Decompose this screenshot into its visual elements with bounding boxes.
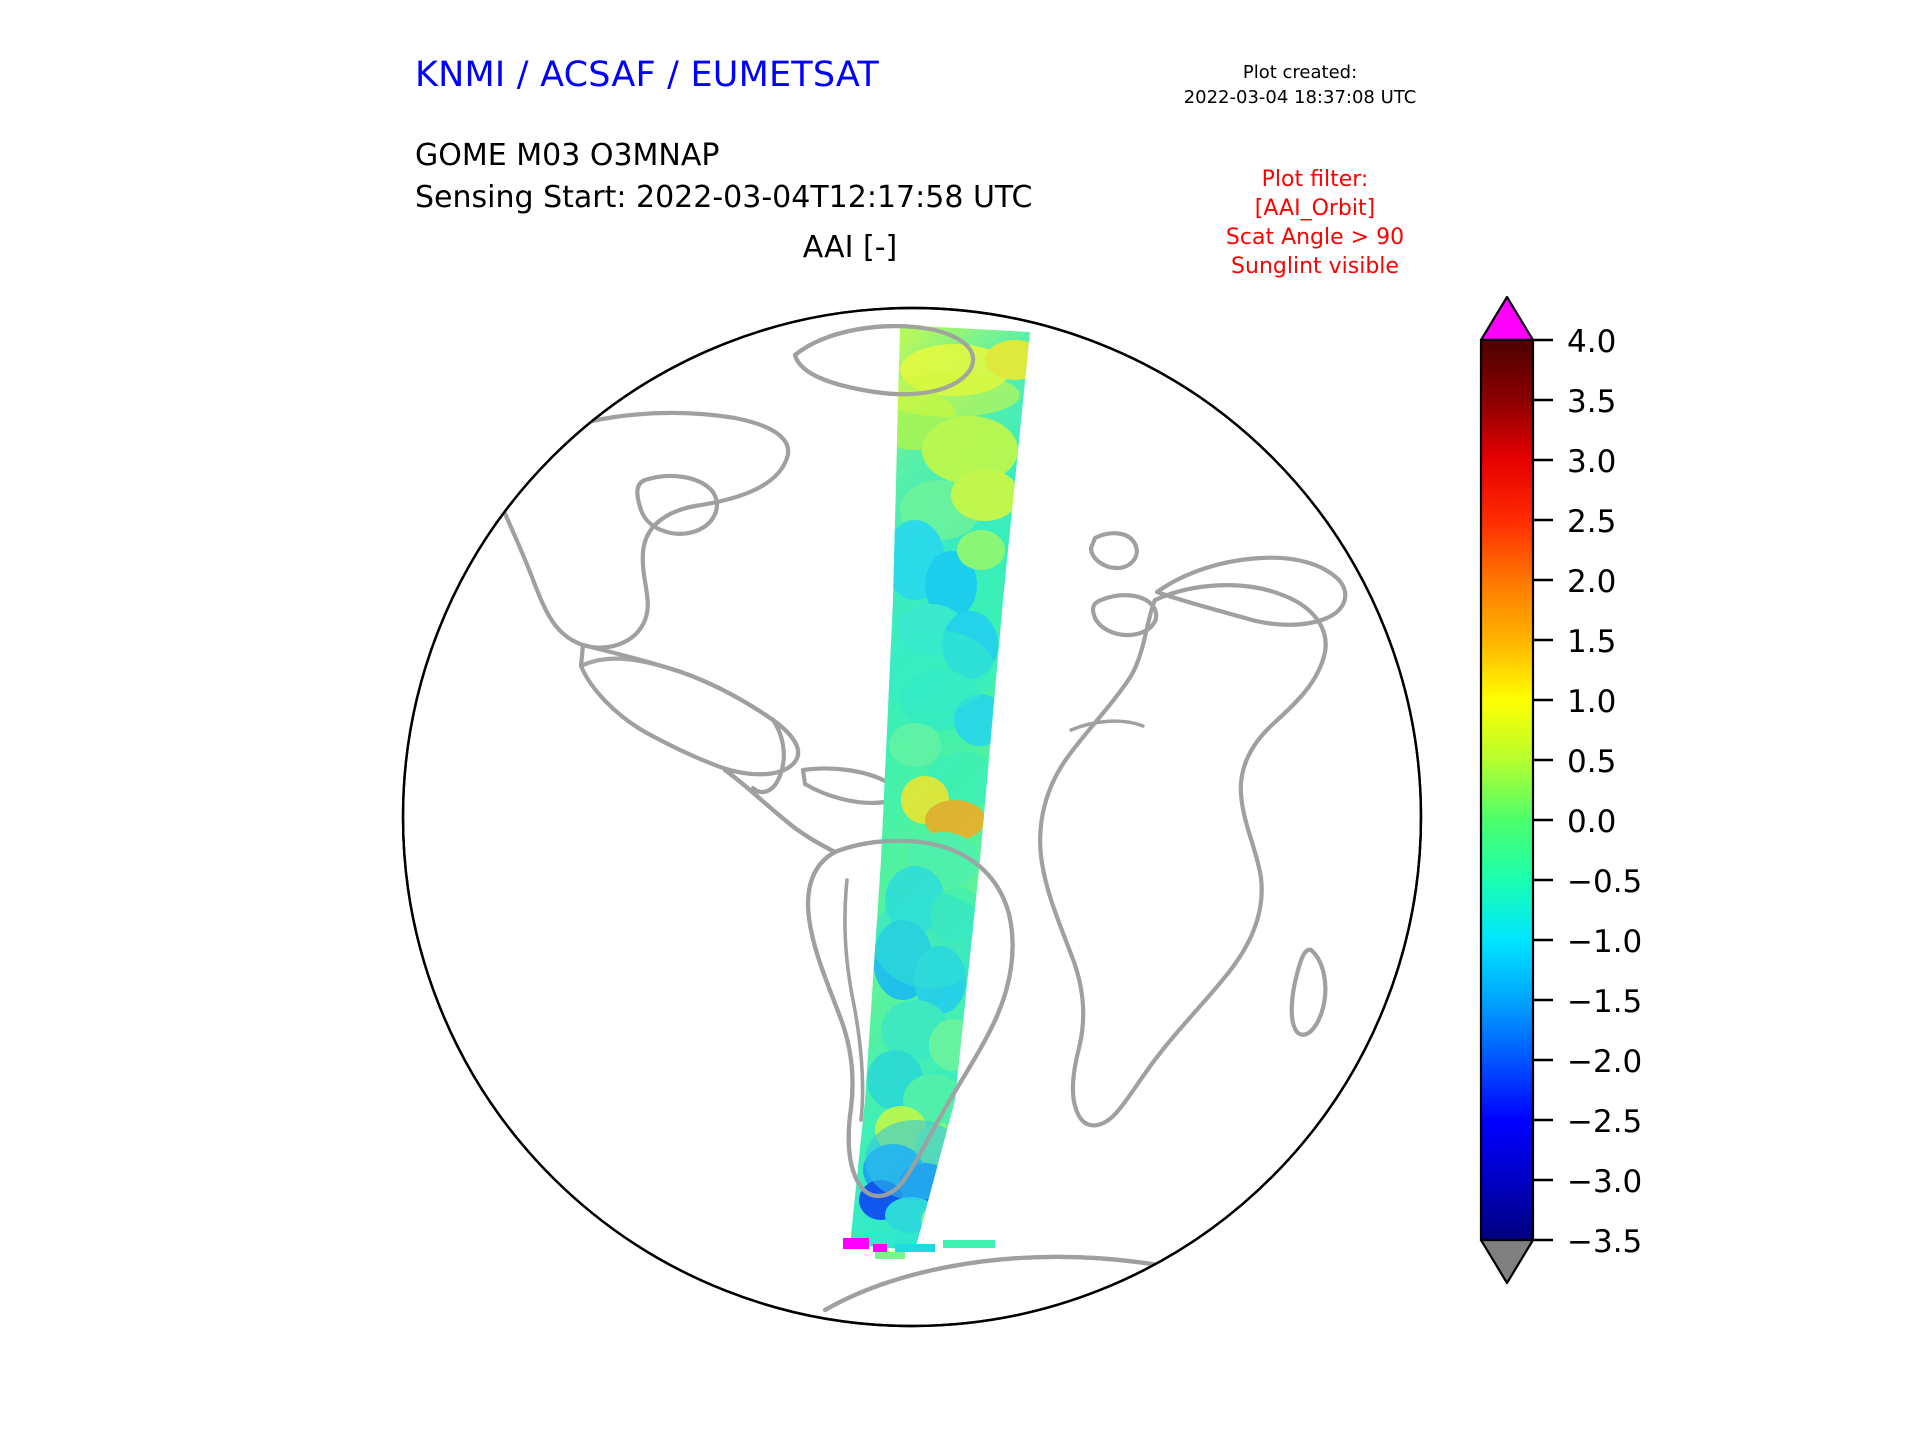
brand-header: KNMI / ACSAF / EUMETSAT bbox=[415, 55, 879, 95]
colorbar-gradient bbox=[1481, 340, 1533, 1240]
colorbar: 4.0 3.5 3.0 2.5 2.0 1.5 1.0 0.5 0.0 −0.5… bbox=[1445, 285, 1865, 1305]
cb-label-1: 3.5 bbox=[1567, 384, 1616, 420]
cb-label-9: −0.5 bbox=[1567, 864, 1642, 900]
colorbar-ticks bbox=[1533, 340, 1553, 1240]
cb-label-2: 3.0 bbox=[1567, 444, 1616, 480]
orthographic-map bbox=[395, 300, 1430, 1335]
cb-label-11: −1.5 bbox=[1567, 984, 1642, 1020]
filter-line-3: Sunglint visible bbox=[1150, 252, 1480, 281]
sensing-start-title: Sensing Start: 2022-03-04T12:17:58 UTC bbox=[415, 177, 1032, 219]
variable-title: AAI [-] bbox=[690, 230, 1010, 265]
cb-label-8: 0.0 bbox=[1567, 804, 1616, 840]
cb-label-10: −1.0 bbox=[1567, 924, 1642, 960]
plot-filter-block: Plot filter: [AAI_Orbit] Scat Angle > 90… bbox=[1150, 165, 1480, 281]
filter-line-0: Plot filter: bbox=[1150, 165, 1480, 194]
instrument-title: GOME M03 O3MNAP bbox=[415, 135, 1032, 177]
cb-label-14: −3.0 bbox=[1567, 1164, 1642, 1200]
colorbar-over-arrow bbox=[1481, 297, 1533, 340]
cb-label-0: 4.0 bbox=[1567, 324, 1616, 360]
cb-label-12: −2.0 bbox=[1567, 1044, 1642, 1080]
plot-created-label: Plot created: bbox=[1140, 60, 1460, 85]
plot-created-block: Plot created: 2022-03-04 18:37:08 UTC bbox=[1140, 60, 1460, 110]
filter-line-2: Scat Angle > 90 bbox=[1150, 223, 1480, 252]
cb-label-6: 1.0 bbox=[1567, 684, 1616, 720]
plot-title-block: GOME M03 O3MNAP Sensing Start: 2022-03-0… bbox=[415, 135, 1032, 219]
filter-line-1: [AAI_Orbit] bbox=[1150, 194, 1480, 223]
cb-label-3: 2.5 bbox=[1567, 504, 1616, 540]
colorbar-tick-labels: 4.0 3.5 3.0 2.5 2.0 1.5 1.0 0.5 0.0 −0.5… bbox=[1567, 324, 1642, 1260]
cb-label-15: −3.5 bbox=[1567, 1224, 1642, 1260]
swath-overflow-pixel bbox=[843, 1238, 869, 1249]
cb-label-4: 2.0 bbox=[1567, 564, 1616, 600]
cb-label-13: −2.5 bbox=[1567, 1104, 1642, 1140]
colorbar-under-arrow bbox=[1481, 1240, 1533, 1283]
plot-created-timestamp: 2022-03-04 18:37:08 UTC bbox=[1140, 85, 1460, 110]
cb-label-7: 0.5 bbox=[1567, 744, 1616, 780]
cb-label-5: 1.5 bbox=[1567, 624, 1616, 660]
